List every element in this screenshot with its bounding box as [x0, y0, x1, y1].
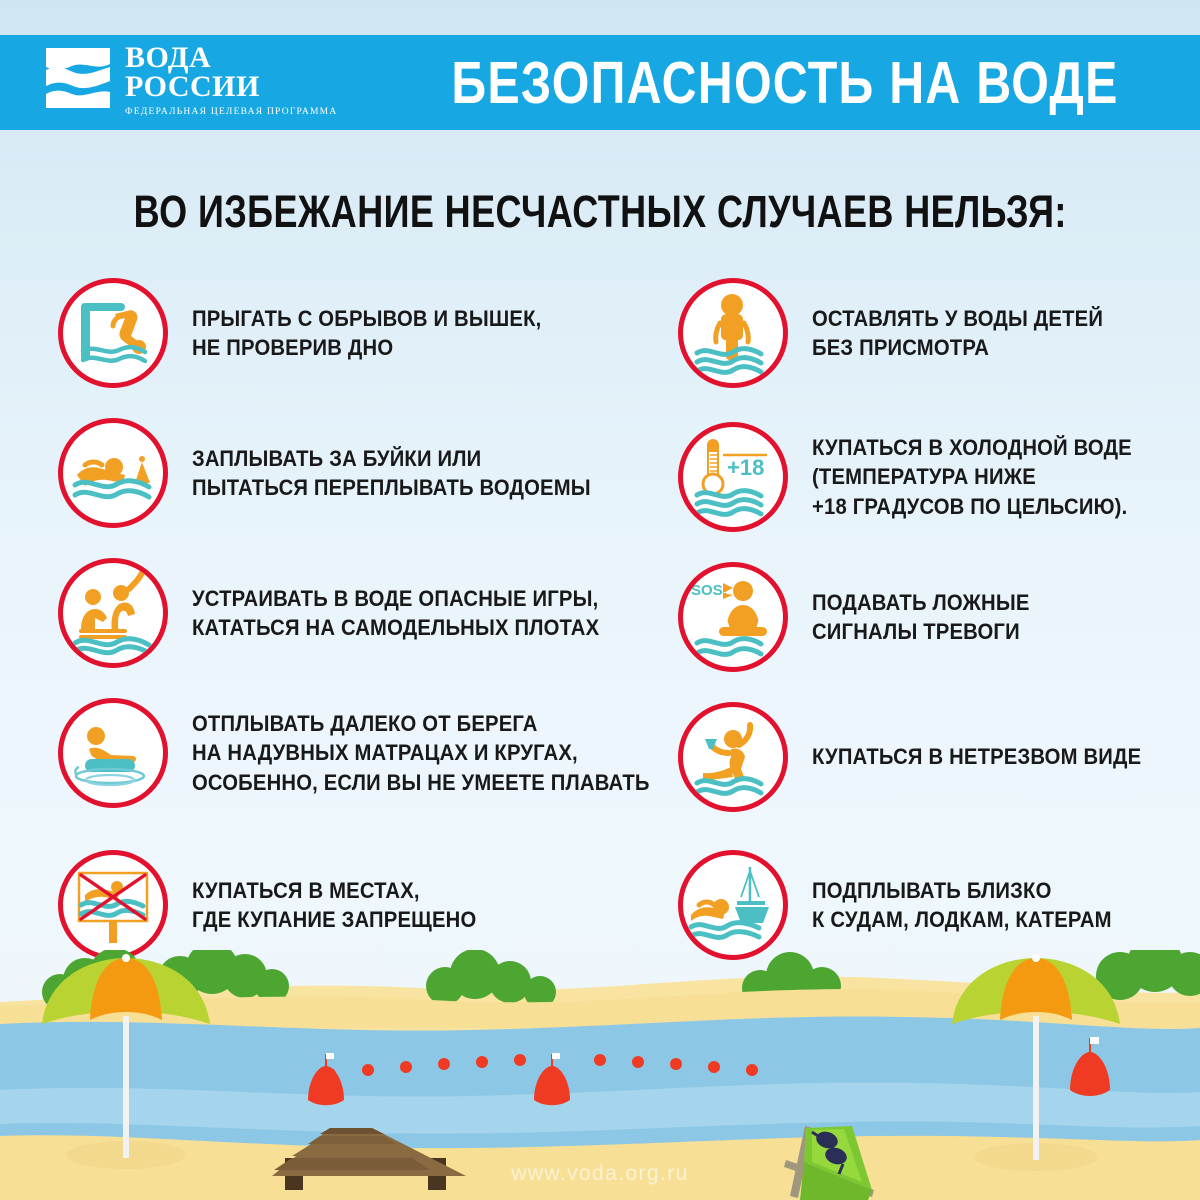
rule-line: УСТРАИВАТЬ В ВОДЕ ОПАСНЫЕ ИГРЫ,	[192, 584, 599, 613]
dangerous-games-raft-icon	[58, 558, 168, 668]
logo: ВОДА РОССИИ ФЕДЕРАЛЬНАЯ ЦЕЛЕВАЯ ПРОГРАММ…	[45, 43, 365, 128]
rule-line: ПЫТАТЬСЯ ПЕРЕПЛЫВАТЬ ВОДОЕМЫ	[192, 473, 591, 502]
swim-past-buoy-icon	[58, 418, 168, 528]
rule-line: ПОДАВАТЬ ЛОЖНЫЕ	[812, 588, 1030, 617]
cliff-diving-icon	[58, 278, 168, 388]
rule-line: ОСОБЕННО, ЕСЛИ ВЫ НЕ УМЕЕТЕ ПЛАВАТЬ	[192, 768, 650, 797]
rule-text: ОТПЛЫВАТЬ ДАЛЕКО ОТ БЕРЕГА НА НАДУВНЫХ М…	[192, 709, 700, 797]
thermometer-label: +18	[727, 455, 764, 480]
rule-line: +18 ГРАДУСОВ ПО ЦЕЛЬСИЮ).	[812, 492, 1132, 521]
rule-line: КУПАТЬСЯ В НЕТРЕЗВОМ ВИДЕ	[812, 742, 1141, 771]
rule-line: КУПАТЬСЯ В МЕСТАХ,	[192, 876, 476, 905]
rule-line: ПОДПЛЫВАТЬ БЛИЗКО	[812, 876, 1112, 905]
rule-line: К СУДАМ, ЛОДКАМ, КАТЕРАМ	[812, 905, 1112, 934]
logo-subtitle: ФЕДЕРАЛЬНАЯ ЦЕЛЕВАЯ ПРОГРАММА	[125, 107, 338, 117]
rule-item: ОТПЛЫВАТЬ ДАЛЕКО ОТ БЕРЕГА НА НАДУВНЫХ М…	[58, 698, 658, 808]
rule-line: КАТАТЬСЯ НА САМОДЕЛЬНЫХ ПЛОТАХ	[192, 613, 599, 642]
drunk-swimming-icon	[678, 702, 788, 812]
section-heading: ВО ИЗБЕЖАНИЕ НЕСЧАСТНЫХ СЛУЧАЕВ НЕЛЬЗЯ:	[0, 186, 1200, 238]
rule-item: КУПАТЬСЯ В МЕСТАХ, ГДЕ КУПАНИЕ ЗАПРЕЩЕНО	[58, 850, 658, 960]
poster-root: ВОДА РОССИИ ФЕДЕРАЛЬНАЯ ЦЕЛЕВАЯ ПРОГРАММ…	[0, 0, 1200, 1200]
no-swimming-sign-icon	[58, 850, 168, 960]
cold-water-thermometer-icon: +18	[678, 422, 788, 532]
rule-item: ПРЫГАТЬ С ОБРЫВОВ И ВЫШЕК, НЕ ПРОВЕРИВ Д…	[58, 278, 658, 388]
rule-text: КУПАТЬСЯ В МЕСТАХ, ГДЕ КУПАНИЕ ЗАПРЕЩЕНО	[192, 876, 508, 935]
voda-rossii-logo-icon	[45, 47, 111, 109]
rule-text: ПОДПЛЫВАТЬ БЛИЗКО К СУДАМ, ЛОДКАМ, КАТЕР…	[812, 876, 1145, 935]
rule-item: УСТРАИВАТЬ В ВОДЕ ОПАСНЫЕ ИГРЫ, КАТАТЬСЯ…	[58, 558, 658, 668]
rule-line: ПРЫГАТЬ С ОБРЫВОВ И ВЫШЕК,	[192, 304, 541, 333]
rule-line: БЕЗ ПРИСМОТРА	[812, 333, 1103, 362]
water	[0, 1017, 1200, 1154]
rule-line: НЕ ПРОВЕРИВ ДНО	[192, 333, 541, 362]
rule-text: ЗАПЛЫВАТЬ ЗА БУЙКИ ИЛИ ПЫТАТЬСЯ ПЕРЕПЛЫВ…	[192, 444, 635, 503]
rule-item: ПОДПЛЫВАТЬ БЛИЗКО К СУДАМ, ЛОДКАМ, КАТЕР…	[678, 850, 1188, 960]
rule-item: +18 КУПАТЬСЯ В ХОЛОДНОЙ ВОДЕ (ТЕМПЕРАТУР…	[678, 422, 1188, 532]
page-title: БЕЗОПАСНОСТЬ НА ВОДЕ	[461, 38, 1109, 128]
section-heading-text: ВО ИЗБЕЖАНИЕ НЕСЧАСТНЫХ СЛУЧАЕВ НЕЛЬЗЯ:	[133, 186, 1066, 238]
rule-line: ЗАПЛЫВАТЬ ЗА БУЙКИ ИЛИ	[192, 444, 591, 473]
rule-text: КУПАТЬСЯ В НЕТРЕЗВОМ ВИДЕ	[812, 742, 1178, 771]
rule-item: SOS! ПОДАВАТЬ ЛОЖНЫЕ СИГНАЛЫ ТРЕВОГИ	[678, 562, 1188, 672]
rule-text: КУПАТЬСЯ В ХОЛОДНОЙ ВОДЕ (ТЕМПЕРАТУРА НИ…	[812, 433, 1167, 521]
rule-line: СИГНАЛЫ ТРЕВОГИ	[812, 617, 1030, 646]
logo-line-1: ВОДА	[125, 43, 338, 72]
rule-item: ЗАПЛЫВАТЬ ЗА БУЙКИ ИЛИ ПЫТАТЬСЯ ПЕРЕПЛЫВ…	[58, 418, 658, 528]
rule-text: ПРЫГАТЬ С ОБРЫВОВ И ВЫШЕК, НЕ ПРОВЕРИВ Д…	[192, 304, 580, 363]
unattended-child-icon	[678, 278, 788, 388]
rule-line: ГДЕ КУПАНИЕ ЗАПРЕЩЕНО	[192, 905, 476, 934]
rule-text: ОСТАВЛЯТЬ У ВОДЫ ДЕТЕЙ БЕЗ ПРИСМОТРА	[812, 304, 1135, 363]
rule-item: КУПАТЬСЯ В НЕТРЕЗВОМ ВИДЕ	[678, 702, 1188, 812]
rule-text: ПОДАВАТЬ ЛОЖНЫЕ СИГНАЛЫ ТРЕВОГИ	[812, 588, 1054, 647]
rule-text: УСТРАИВАТЬ В ВОДЕ ОПАСНЫЕ ИГРЫ, КАТАТЬСЯ…	[192, 584, 645, 643]
inflatable-mattress-icon	[58, 698, 168, 808]
swim-near-boats-icon	[678, 850, 788, 960]
rule-line: НА НАДУВНЫХ МАТРАЦАХ И КРУГАХ,	[192, 738, 650, 767]
rule-line: (ТЕМПЕРАТУРА НИЖЕ	[812, 462, 1132, 491]
logo-line-2: РОССИИ	[125, 72, 338, 101]
rule-line: ОТПЛЫВАТЬ ДАЛЕКО ОТ БЕРЕГА	[192, 709, 650, 738]
rule-item: ОСТАВЛЯТЬ У ВОДЫ ДЕТЕЙ БЕЗ ПРИСМОТРА	[678, 278, 1188, 388]
false-alarm-sos-icon: SOS!	[678, 562, 788, 672]
rule-line: ОСТАВЛЯТЬ У ВОДЫ ДЕТЕЙ	[812, 304, 1103, 333]
rule-line: КУПАТЬСЯ В ХОЛОДНОЙ ВОДЕ	[812, 433, 1132, 462]
sos-label: SOS!	[691, 582, 728, 599]
site-url[interactable]: www.voda.org.ru	[0, 1162, 1200, 1186]
